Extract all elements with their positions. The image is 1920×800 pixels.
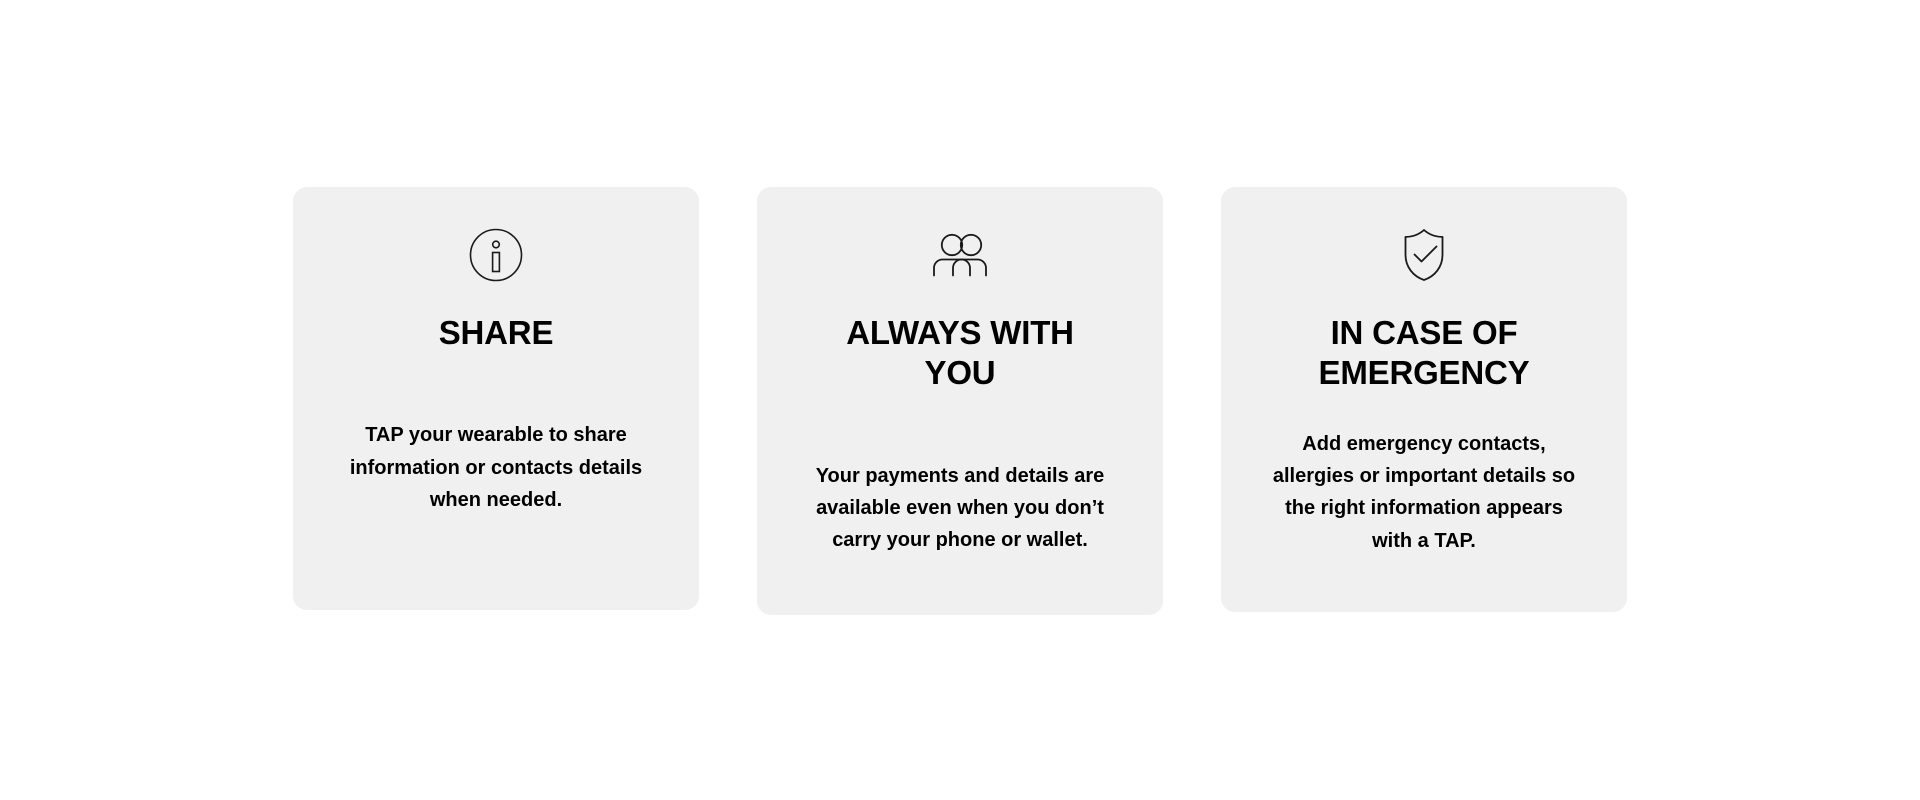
- feature-card-body: Your payments and details are available …: [810, 460, 1110, 557]
- info-circle-icon: [464, 223, 528, 287]
- feature-card-always-with-you: ALWAYS WITH YOU Your payments and detail…: [757, 187, 1163, 615]
- feature-cards-section: SHARE TAP your wearable to share informa…: [0, 0, 1920, 800]
- shield-check-icon: [1392, 223, 1456, 287]
- feature-card-body: Add emergency contacts, allergies or imp…: [1265, 428, 1583, 558]
- feature-card-emergency: IN CASE OF EMERGENCY Add emergency conta…: [1221, 187, 1627, 612]
- feature-card-title: ALWAYS WITH YOU: [810, 313, 1110, 394]
- feature-card-title: IN CASE OF EMERGENCY: [1274, 313, 1574, 394]
- feature-card-share: SHARE TAP your wearable to share informa…: [293, 187, 699, 610]
- feature-card-body: TAP your wearable to share information o…: [346, 419, 646, 516]
- feature-card-title: SHARE: [439, 313, 554, 353]
- two-people-icon: [928, 223, 992, 287]
